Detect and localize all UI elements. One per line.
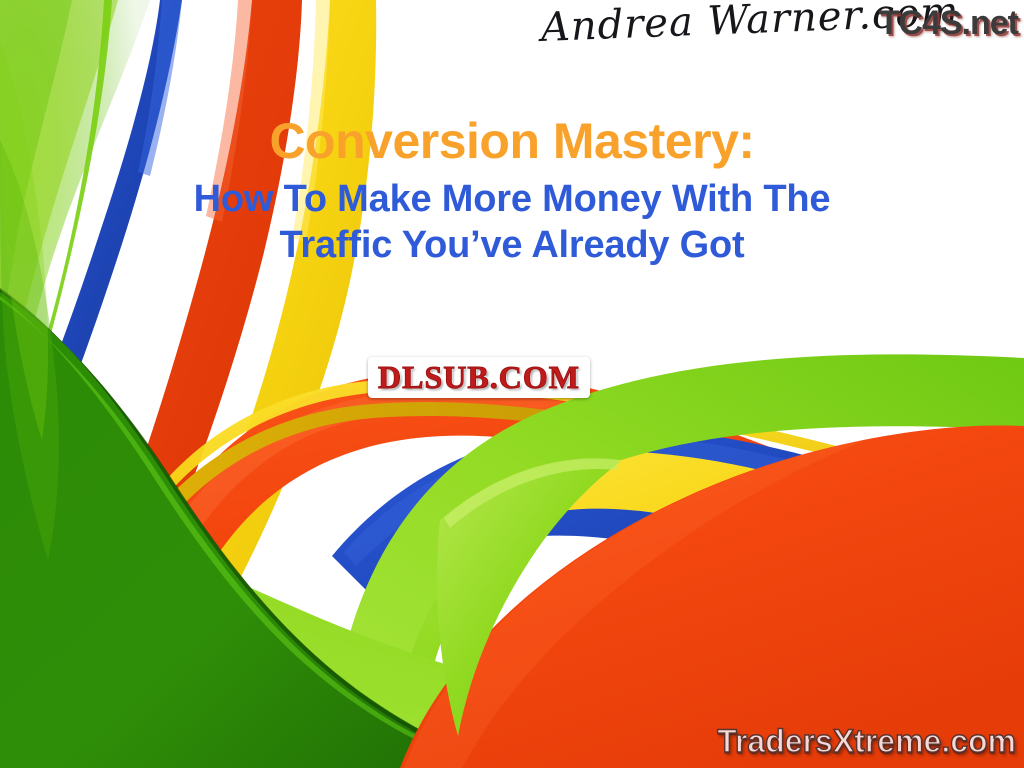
subtitle-line-1: How To Make More Money With The bbox=[0, 176, 1024, 222]
watermark-dlsub-text: DLSUB.COM bbox=[378, 359, 580, 395]
page-title: Conversion Mastery: bbox=[0, 112, 1024, 170]
subtitle-line-2: Traffic You’ve Already Got bbox=[0, 222, 1024, 268]
slide-canvas: Andrea Warner.com TC4S.net Conversion Ma… bbox=[0, 0, 1024, 768]
title-block: Conversion Mastery: How To Make More Mon… bbox=[0, 112, 1024, 268]
watermark-tc4s: TC4S.net bbox=[879, 4, 1018, 42]
watermark-tradersxtreme: TradersXtreme.com bbox=[717, 722, 1016, 760]
watermark-dlsub-badge: DLSUB.COM bbox=[368, 357, 590, 398]
